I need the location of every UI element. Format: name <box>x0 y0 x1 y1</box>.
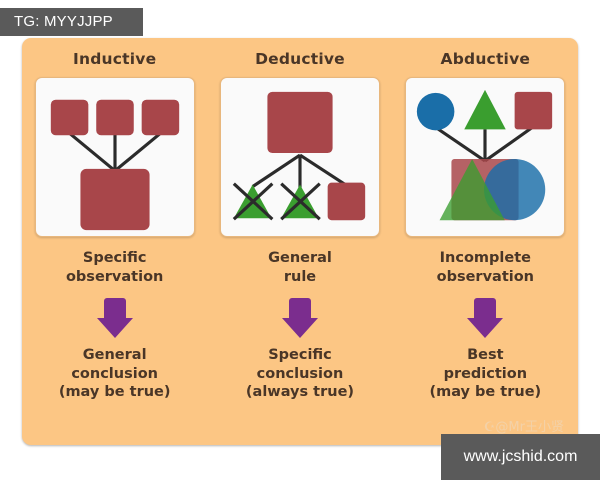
infographic-panel: Inductive Specificobservation <box>22 38 578 445</box>
caption-abductive: Incompleteobservation <box>437 249 534 287</box>
arrow-wrap-abductive <box>465 296 505 340</box>
url-badge: www.jcshid.com <box>441 434 600 480</box>
diagram-card-abductive <box>405 77 565 237</box>
column-title-inductive: Inductive <box>73 50 156 68</box>
red-square-icon <box>50 100 88 136</box>
connector-line <box>69 133 114 171</box>
down-arrow-icon <box>280 296 320 340</box>
column-deductive: Deductive <box>207 38 392 445</box>
conclusion-deductive: Specificconclusion(always true) <box>246 346 354 403</box>
conclusion-inductive: Generalconclusion(may be true) <box>59 346 171 403</box>
column-title-abductive: Abductive <box>441 50 531 68</box>
down-arrow-icon <box>465 296 505 340</box>
deductive-diagram <box>221 78 379 236</box>
red-square-icon <box>328 183 366 221</box>
down-arrow-icon <box>95 296 135 340</box>
large-red-square-icon <box>80 169 149 230</box>
abductive-diagram <box>406 78 564 236</box>
arrow-wrap-inductive <box>95 296 135 340</box>
connector-line <box>485 127 532 161</box>
green-triangle-icon <box>465 90 506 130</box>
red-square-icon <box>96 100 134 136</box>
column-title-deductive: Deductive <box>255 50 345 68</box>
conclusion-abductive: Bestprediction(may be true) <box>429 346 541 403</box>
columns-container: Inductive Specificobservation <box>22 38 578 445</box>
connector-line <box>115 133 160 171</box>
inductive-diagram <box>36 78 194 236</box>
connector-line <box>300 155 345 185</box>
connector-line <box>436 127 485 161</box>
connector-line <box>253 155 300 187</box>
caption-deductive: Generalrule <box>268 249 332 287</box>
blue-circle-icon <box>417 93 455 131</box>
arrow-wrap-deductive <box>280 296 320 340</box>
diagram-card-deductive <box>220 77 380 237</box>
screenshot-root: TG: MYYJJPP Inductive Speci <box>0 0 600 480</box>
column-abductive: Abductive <box>393 38 578 445</box>
overlapping-composite-icon <box>440 159 546 220</box>
column-inductive: Inductive Specificobservation <box>22 38 207 445</box>
tg-badge: TG: MYYJJPP <box>0 8 143 36</box>
red-square-icon <box>515 92 553 130</box>
caption-inductive: Specificobservation <box>66 249 163 287</box>
diagram-card-inductive <box>35 77 195 237</box>
large-red-square-icon <box>267 92 332 153</box>
red-square-icon <box>141 100 179 136</box>
